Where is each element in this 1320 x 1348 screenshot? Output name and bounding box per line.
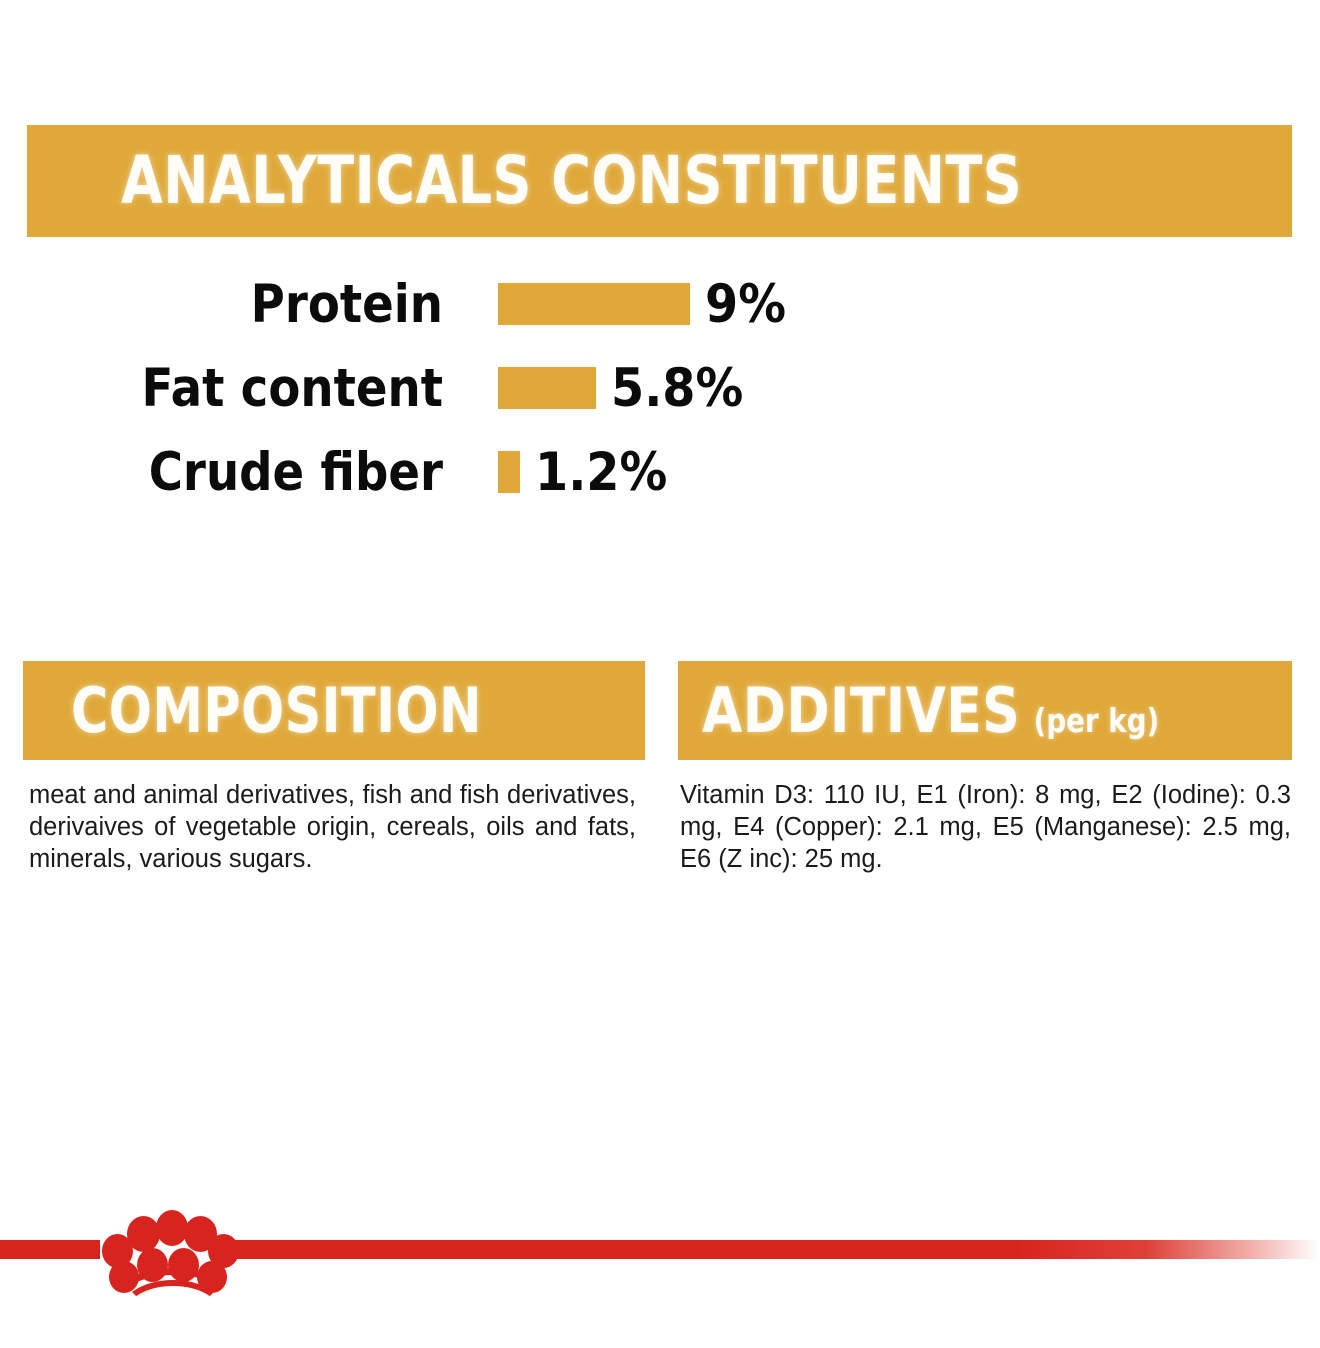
crown-arc-inner xyxy=(120,1280,226,1346)
constituent-bar-wrap-crude-fiber: 1.2% xyxy=(498,446,682,499)
constituent-value-protein: 9% xyxy=(705,278,786,331)
constituent-label-protein: Protein xyxy=(53,278,443,331)
footer-rule-left xyxy=(0,1240,100,1259)
constituent-bar-wrap-protein: 9% xyxy=(498,278,795,331)
constituent-bar-protein xyxy=(498,283,690,325)
royal-canin-crown-logo xyxy=(96,1208,241,1306)
nutrition-label-page: ANALYTICALS CONSTITUENTS Protein 9% Fat … xyxy=(0,0,1320,1320)
constituent-row-crude-fiber: Crude fiber 1.2% xyxy=(0,430,1320,514)
constituent-label-crude-fiber: Crude fiber xyxy=(53,446,443,499)
analyticals-constituents-chart: Protein 9% Fat content 5.8% Crude fiber … xyxy=(0,262,1320,514)
footer-rule-right xyxy=(232,1240,1320,1259)
constituent-row-fat-content: Fat content 5.8% xyxy=(0,346,1320,430)
analyticals-constituents-title: ANALYTICALS CONSTITUENTS xyxy=(121,148,1022,214)
additives-header: ADDITIVES (per kg) xyxy=(678,661,1292,760)
constituent-bar-wrap-fat-content: 5.8% xyxy=(498,362,758,415)
crown-dot-top-2 xyxy=(127,1216,160,1252)
additives-subtitle: (per kg) xyxy=(1034,704,1160,737)
constituent-bar-crude-fiber xyxy=(498,451,520,493)
constituent-value-fat-content: 5.8% xyxy=(611,362,743,415)
composition-title: COMPOSITION xyxy=(71,680,482,742)
constituent-row-protein: Protein 9% xyxy=(0,262,1320,346)
constituent-bar-fat-content xyxy=(498,367,596,409)
additives-title: ADDITIVES xyxy=(702,680,1020,742)
constituent-value-crude-fiber: 1.2% xyxy=(535,446,667,499)
crown-dot-top-3 xyxy=(156,1210,188,1246)
additives-title-row: ADDITIVES (per kg) xyxy=(702,680,1159,742)
composition-body-text: meat and animal derivatives, fish and fi… xyxy=(29,779,636,875)
analyticals-constituents-header: ANALYTICALS CONSTITUENTS xyxy=(27,125,1292,237)
composition-header: COMPOSITION xyxy=(23,661,645,760)
constituent-label-fat-content: Fat content xyxy=(53,362,443,415)
additives-body-text: Vitamin D3: 110 IU, E1 (Iron): 8 mg, E2 … xyxy=(680,779,1291,875)
